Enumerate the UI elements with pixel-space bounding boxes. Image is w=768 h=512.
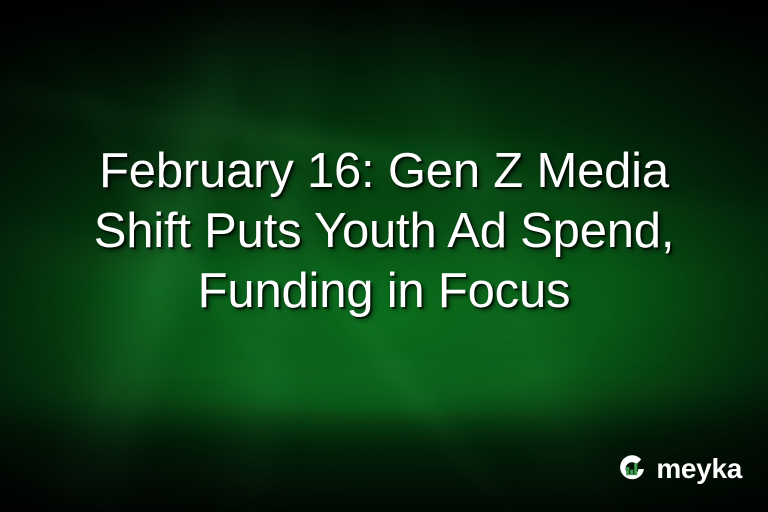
brand-logo[interactable]: meyka bbox=[615, 452, 742, 486]
circular-ring-bar-chart-icon bbox=[615, 452, 649, 486]
brand-name: meyka bbox=[656, 455, 742, 483]
page-title: February 16: Gen Z Media Shift Puts Yout… bbox=[0, 141, 768, 321]
news-headline-card: February 16: Gen Z Media Shift Puts Yout… bbox=[0, 0, 768, 512]
